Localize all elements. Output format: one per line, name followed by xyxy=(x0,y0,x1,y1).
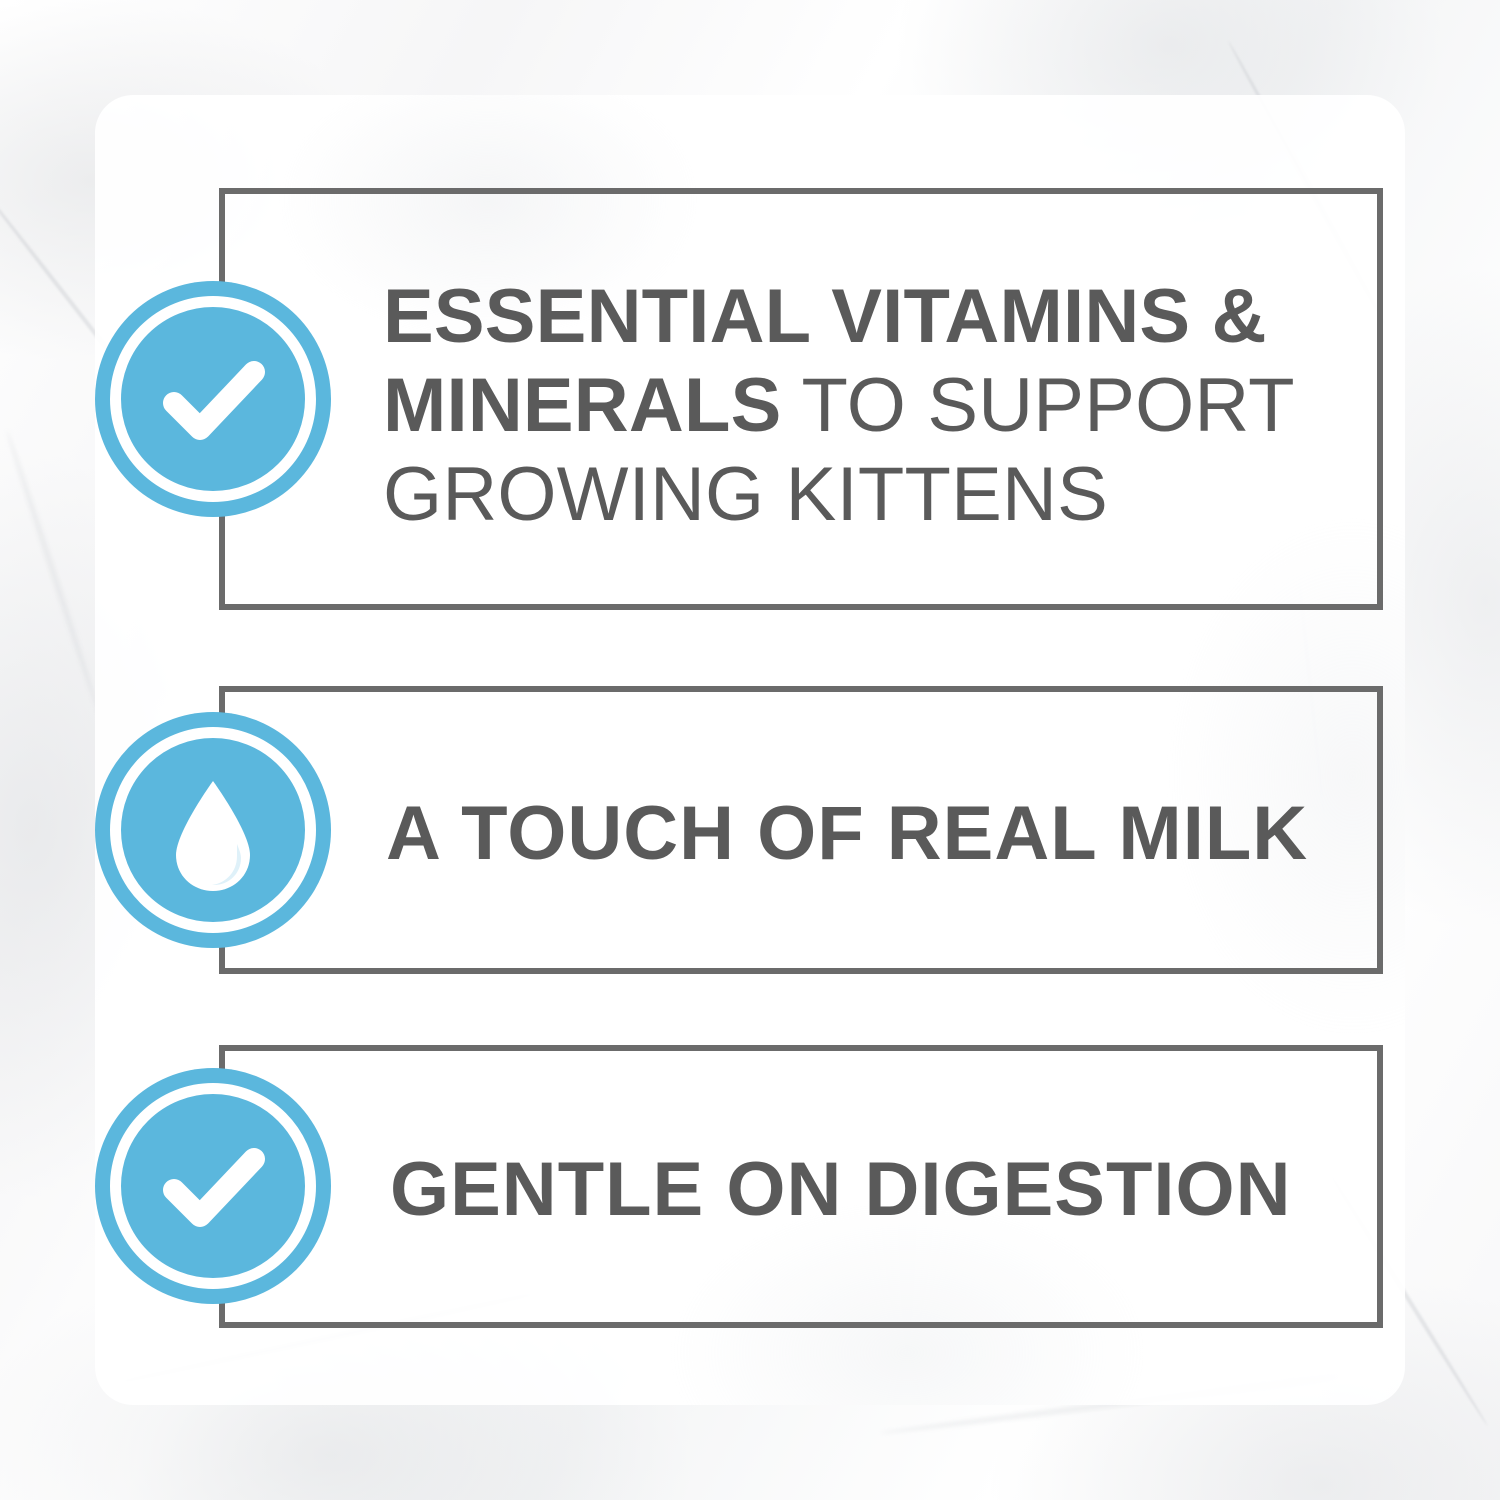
water-droplet-icon xyxy=(95,712,331,948)
marble-vein xyxy=(4,430,102,717)
feature-1-line2-bold: MINERALS xyxy=(383,363,782,448)
check-circle-icon xyxy=(95,281,331,517)
feature-1-line3: GROWING KITTENS xyxy=(383,452,1108,537)
feature-label-gentle-on-digestion: GENTLE ON DIGESTION xyxy=(390,1147,1292,1233)
check-circle-icon xyxy=(95,1068,331,1304)
feature-label-essential-vitamins-minerals: ESSENTIAL VITAMINS & MINERALS TO SUPPORT… xyxy=(383,272,1323,539)
feature-panel: ESSENTIAL VITAMINS & MINERALS TO SUPPORT… xyxy=(0,0,1500,1500)
feature-1-line2-light: TO SUPPORT xyxy=(782,363,1295,448)
feature-1-line1: ESSENTIAL VITAMINS & xyxy=(383,274,1267,359)
feature-label-touch-of-real-milk: A TOUCH OF REAL MILK xyxy=(386,791,1308,877)
